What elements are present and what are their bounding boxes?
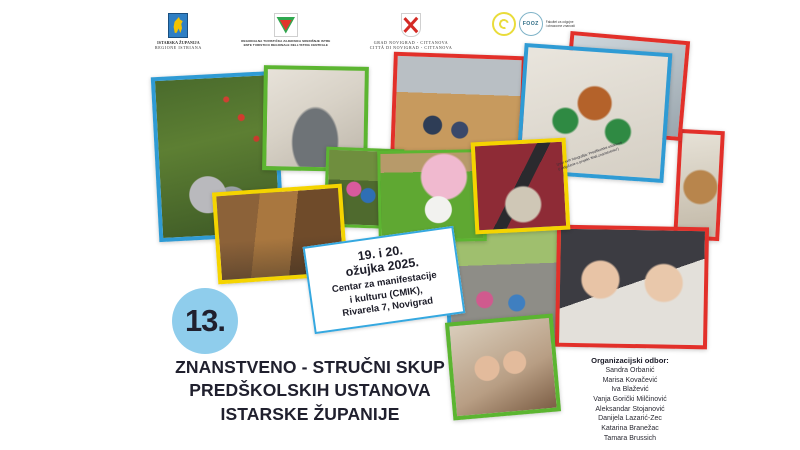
title-line2: PREDŠKOLSKIH USTANOVA	[110, 379, 510, 402]
organizing-committee: Organizacijski odbor: Sandra Orbanić Mar…	[540, 356, 720, 443]
triangle-icon	[274, 12, 298, 38]
list-item: Iva Blažević	[540, 385, 720, 395]
turisticka-zajednica-caption: REGIONALNA TURISTIČKA ZAJEDNICA SREDIŠNJ…	[241, 40, 330, 48]
title-line3: ISTARSKE ŽUPANIJE	[110, 403, 510, 426]
page-title: ZNANSTVENO - STRUČNI SKUP PREDŠKOLSKIH U…	[110, 356, 510, 426]
conference-poster: ISTARSKA ŽUPANIJA REGIONE ISTRIANA REGIO…	[0, 0, 800, 450]
edition-badge: 13.	[172, 288, 238, 354]
photo-children-eating	[555, 225, 709, 350]
list-item: Sandra Orbanić	[540, 366, 720, 376]
fooz-logo: FOOZ Fakultet za odgojne i obrazovne zna…	[492, 12, 575, 36]
list-item: Vanja Gorički Milčinović	[540, 395, 720, 405]
title-line1: ZNANSTVENO - STRUČNI SKUP	[110, 356, 510, 379]
istarska-zupanija-caption: ISTARSKA ŽUPANIJA REGIONE ISTRIANA	[155, 40, 202, 50]
committee-heading: Organizacijski odbor:	[540, 356, 720, 365]
fooz-caption: Fakultet za odgojne i obrazovne znanosti	[546, 20, 575, 29]
spiral-icon	[492, 12, 516, 36]
turisticka-zajednica-line2: ENTE TURISTICO REGIONALE DELL'ISTRIA CEN…	[241, 44, 330, 48]
photo-mixing-bowl	[471, 138, 571, 235]
grad-novigrad-logo: GRAD NOVIGRAD - CITTANOVA CITTÀ DI NOVIG…	[370, 12, 453, 50]
shield-goat-icon	[168, 12, 188, 38]
list-item: Danijela Lazarić-Zec	[540, 414, 720, 424]
grad-novigrad-line2: CITTÀ DI NOVIGRAD - CITTANOVA	[370, 45, 453, 50]
fooz-line2: i obrazovne znanosti	[546, 24, 575, 28]
turisticka-zajednica-logo: REGIONALNA TURISTIČKA ZAJEDNICA SREDIŠNJ…	[241, 12, 330, 48]
committee-list: Sandra Orbanić Marisa Kovačević Iva Blaž…	[540, 366, 720, 443]
edition-number: 13.	[185, 303, 225, 339]
list-item: Aleksandar Stojanović	[540, 405, 720, 415]
list-item: Tamara Brussich	[540, 434, 720, 444]
grad-novigrad-caption: GRAD NOVIGRAD - CITTANOVA CITTÀ DI NOVIG…	[370, 40, 453, 50]
shield-cross-icon	[401, 12, 421, 38]
logo-strip: ISTARSKA ŽUPANIJA REGIONE ISTRIANA REGIO…	[155, 12, 575, 60]
istarska-zupanija-logo: ISTARSKA ŽUPANIJA REGIONE ISTRIANA	[155, 12, 202, 50]
fooz-mark: FOOZ	[519, 12, 543, 36]
istarska-zupanija-line2: REGIONE ISTRIANA	[155, 45, 202, 50]
list-item: Marisa Kovačević	[540, 376, 720, 386]
photo-right-edge	[673, 129, 725, 241]
list-item: Katarina Branežac	[540, 424, 720, 434]
